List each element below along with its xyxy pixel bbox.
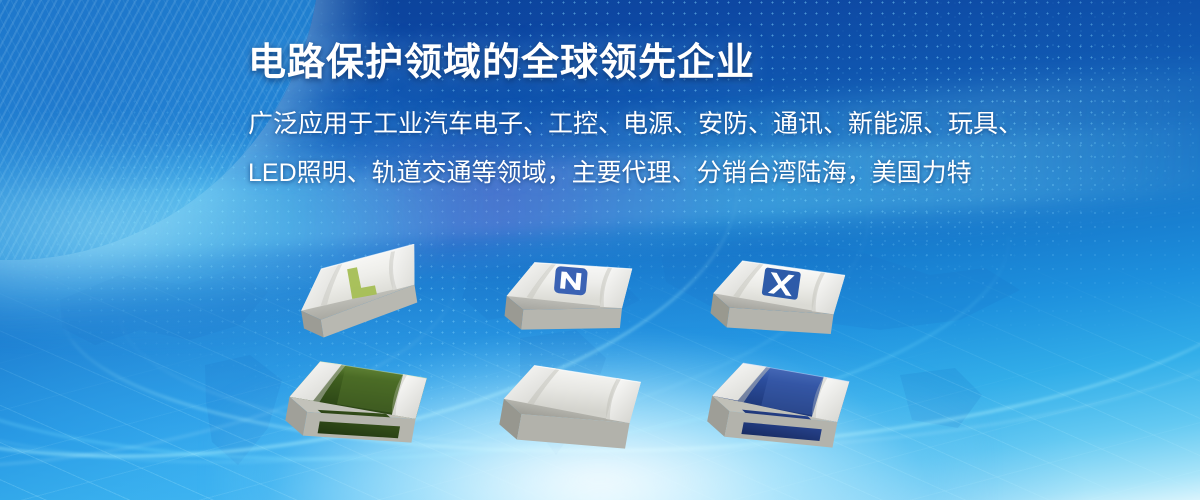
- product-fuse-l-green[interactable]: [286, 244, 426, 354]
- product-showcase: [0, 0, 1200, 500]
- product-fuse-x-blue[interactable]: [700, 252, 850, 362]
- promo-banner: 电路保护领域的全球领先企业 广泛应用于工业汽车电子、工控、电源、安防、通讯、新能…: [0, 0, 1200, 500]
- product-fuse-plain-white[interactable]: [492, 358, 642, 473]
- product-fuse-green-body[interactable]: [278, 354, 428, 469]
- product-fuse-blue-body[interactable]: [700, 356, 850, 471]
- product-fuse-n-blue[interactable]: [494, 250, 634, 360]
